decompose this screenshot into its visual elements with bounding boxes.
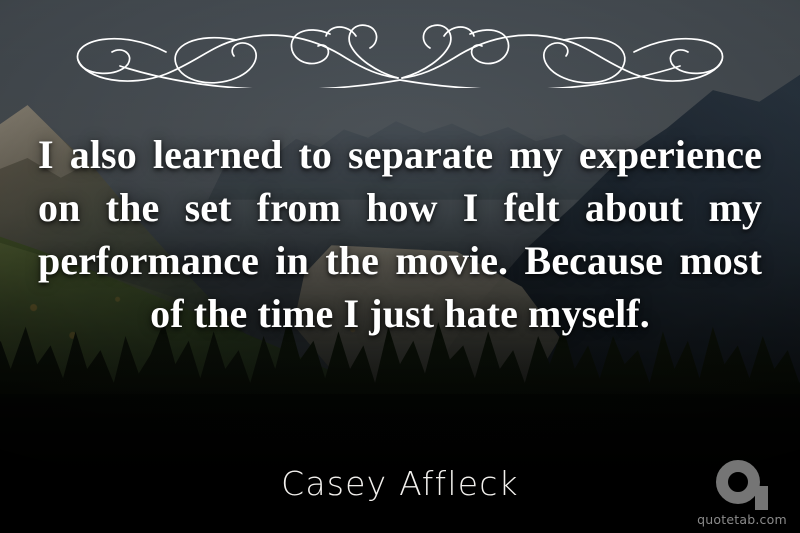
logo-ring-shape — [716, 460, 760, 504]
quote-text: I also learned to separate my experience… — [38, 128, 762, 340]
content-layer: I also learned to separate my experience… — [0, 0, 800, 533]
quote-image-card: I also learned to separate my experience… — [0, 0, 800, 533]
watermark-label: quotetab.com — [697, 512, 787, 527]
flourish-ornament-icon — [0, 6, 800, 88]
watermark[interactable]: quotetab.com — [696, 460, 788, 527]
logo-tail-shape — [755, 486, 768, 510]
author-name: Casey Affleck — [0, 464, 800, 503]
quotetab-q-logo-icon — [716, 460, 768, 510]
